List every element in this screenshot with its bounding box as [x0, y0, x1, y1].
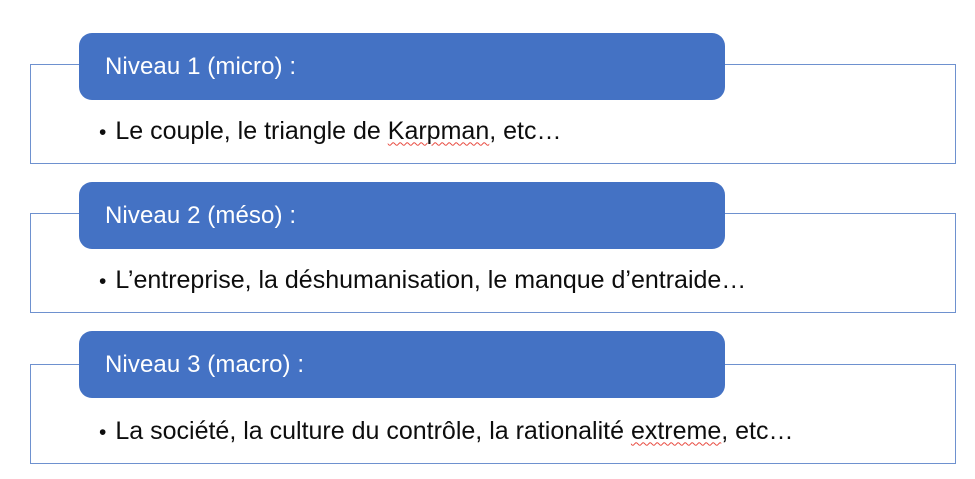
- level-1-header-label: Niveau 1 (micro) :: [105, 55, 296, 79]
- level-2-header-label: Niveau 2 (méso) :: [105, 204, 296, 228]
- bullet-dot-icon: •: [99, 271, 106, 292]
- text-run: L’entreprise, la déshumanisation, le man…: [115, 266, 746, 294]
- level-3-bullet-line: • La société, la culture du contrôle, la…: [99, 418, 794, 446]
- text-run: Le couple, le triangle de: [115, 117, 387, 145]
- level-1-body: • Le couple, le triangle de Karpman, etc…: [99, 104, 899, 160]
- bullet-dot-icon: •: [99, 422, 106, 443]
- misspelled-word[interactable]: Karpman: [388, 117, 489, 145]
- level-3-bullet-text: La société, la culture du contrôle, la r…: [115, 418, 793, 446]
- misspelled-word[interactable]: extreme: [631, 417, 721, 445]
- text-run: , etc…: [721, 417, 793, 445]
- level-3-header-tab[interactable]: Niveau 3 (macro) :: [79, 331, 725, 398]
- text-run: La société, la culture du contrôle, la r…: [115, 417, 631, 445]
- level-1-header-tab[interactable]: Niveau 1 (micro) :: [79, 33, 725, 100]
- level-3-header-label: Niveau 3 (macro) :: [105, 353, 304, 377]
- bullet-dot-icon: •: [99, 122, 106, 143]
- slide-canvas: Niveau 1 (micro) : • Le couple, le trian…: [0, 0, 975, 479]
- level-1-bullet-line: • Le couple, le triangle de Karpman, etc…: [99, 118, 561, 146]
- level-3-body: • La société, la culture du contrôle, la…: [99, 404, 939, 460]
- text-run: , etc…: [489, 117, 561, 145]
- level-2-bullet-line: • L’entreprise, la déshumanisation, le m…: [99, 267, 746, 295]
- level-2-bullet-text: L’entreprise, la déshumanisation, le man…: [115, 267, 746, 295]
- level-1-bullet-text: Le couple, le triangle de Karpman, etc…: [115, 118, 561, 146]
- level-2-body: • L’entreprise, la déshumanisation, le m…: [99, 253, 919, 309]
- level-2-header-tab[interactable]: Niveau 2 (méso) :: [79, 182, 725, 249]
